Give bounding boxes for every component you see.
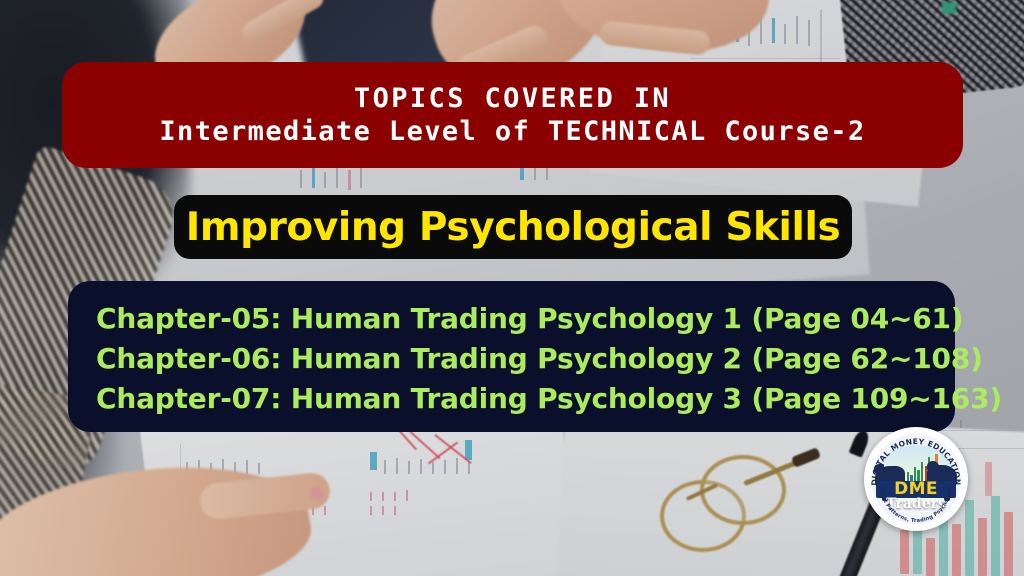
chapter-item-06: Chapter-06: Human Trading Psychology 2 (… [96,342,955,375]
logo-arc-top-label: DIGITAL MONEY EDUCATION [870,437,962,486]
header-banner: TOPICS COVERED IN Intermediate Level of … [62,62,963,168]
subtitle-text: Improving Psychological Skills [186,205,841,250]
header-title-line2: Intermediate Level of TECHNICAL Course-2 [159,116,865,147]
svg-text:DIGITAL MONEY EDUCATION: DIGITAL MONEY EDUCATION [870,437,962,486]
logo-arc-top-text: DIGITAL MONEY EDUCATION Chart Patterns, … [864,427,968,531]
chapter-item-07: Chapter-07: Human Trading Psychology 3 (… [96,382,955,415]
logo-badge: DME Traders DIGITAL MONEY EDUCATION Char… [864,427,968,531]
chapters-card: Chapter-05: Human Trading Psychology 1 (… [68,281,955,432]
logo-arc-bottom-label: Chart Patterns, Trading Psychology [879,486,953,524]
chapter-item-05: Chapter-05: Human Trading Psychology 1 (… [96,302,955,335]
svg-text:Chart Patterns, Trading Psycho: Chart Patterns, Trading Psychology [879,486,953,524]
subtitle-banner: Improving Psychological Skills [174,195,852,259]
header-title-line1: TOPICS COVERED IN [354,83,671,114]
